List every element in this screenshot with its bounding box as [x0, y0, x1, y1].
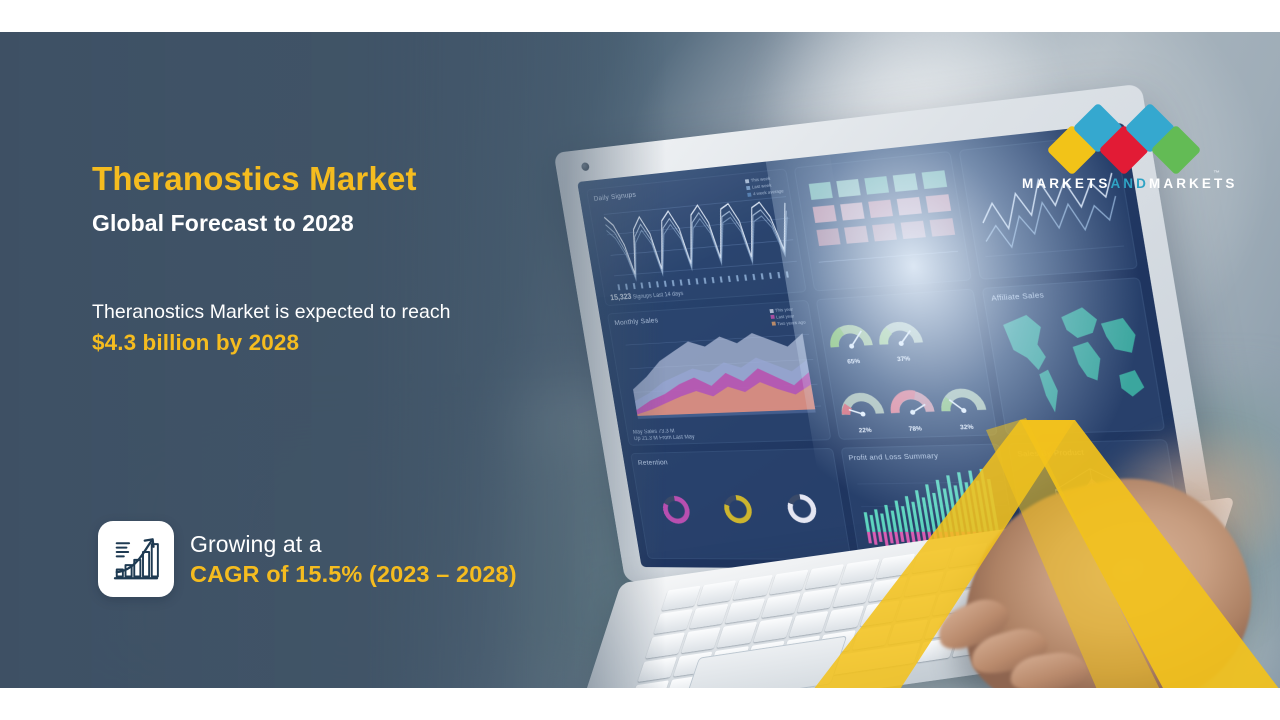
logo-diamonds	[1022, 110, 1218, 172]
retention-donuts	[640, 463, 843, 554]
logo-trademark: ™	[1214, 170, 1221, 177]
cagr-line-2: CAGR of 15.5% (2023 – 2028)	[190, 560, 517, 589]
retention-donut-1	[661, 496, 692, 524]
page-subtitle: Global Forecast to 2028	[92, 210, 652, 237]
card-grid-metrics	[793, 151, 972, 291]
lead-highlight: $4.3 billion by 2028	[92, 330, 652, 356]
page-title: Theranostics Market	[92, 160, 652, 199]
gauge-5: 32%	[931, 362, 994, 433]
gauge-value-3: 22%	[841, 426, 891, 434]
card-gauges: 65% 37%	[815, 288, 998, 439]
retention-donut-2	[722, 495, 754, 524]
brand-logo[interactable]: MARKETSANDMARKETS™	[1022, 110, 1218, 191]
growth-bar-chart-glyph	[108, 531, 164, 587]
gauge-value-5: 32%	[941, 423, 993, 432]
logo-word-2: MARKETS	[1149, 176, 1237, 191]
logo-wordmark: MARKETSANDMARKETS™	[1022, 176, 1218, 191]
cagr-line-1: Growing at a	[190, 530, 517, 558]
world-map-icon	[982, 277, 1165, 435]
gauge-grid: 65% 37%	[820, 292, 994, 437]
logo-word-and: AND	[1110, 176, 1149, 191]
growth-bar-chart-icon	[98, 521, 174, 597]
chart-grid-metrics	[793, 151, 972, 291]
card-affiliate-sales: Affiliate Sales	[982, 277, 1165, 435]
headline-block: Theranostics Market Global Forecast to 2…	[92, 160, 652, 356]
gauge-spacer	[919, 292, 982, 364]
retention-donut-3	[785, 494, 818, 523]
cagr-text: Growing at a CAGR of 15.5% (2023 – 2028)	[190, 530, 517, 589]
lead-text: Theranostics Market is expected to reach	[92, 299, 652, 327]
cagr-block: Growing at a CAGR of 15.5% (2023 – 2028)	[98, 521, 517, 597]
banner: Daily Signups This week Last week 4 week…	[0, 32, 1280, 688]
logo-word-1: MARKETS	[1022, 176, 1110, 191]
slide-canvas: Daily Signups This week Last week 4 week…	[0, 0, 1280, 720]
gauge-value-4: 78%	[890, 425, 941, 434]
